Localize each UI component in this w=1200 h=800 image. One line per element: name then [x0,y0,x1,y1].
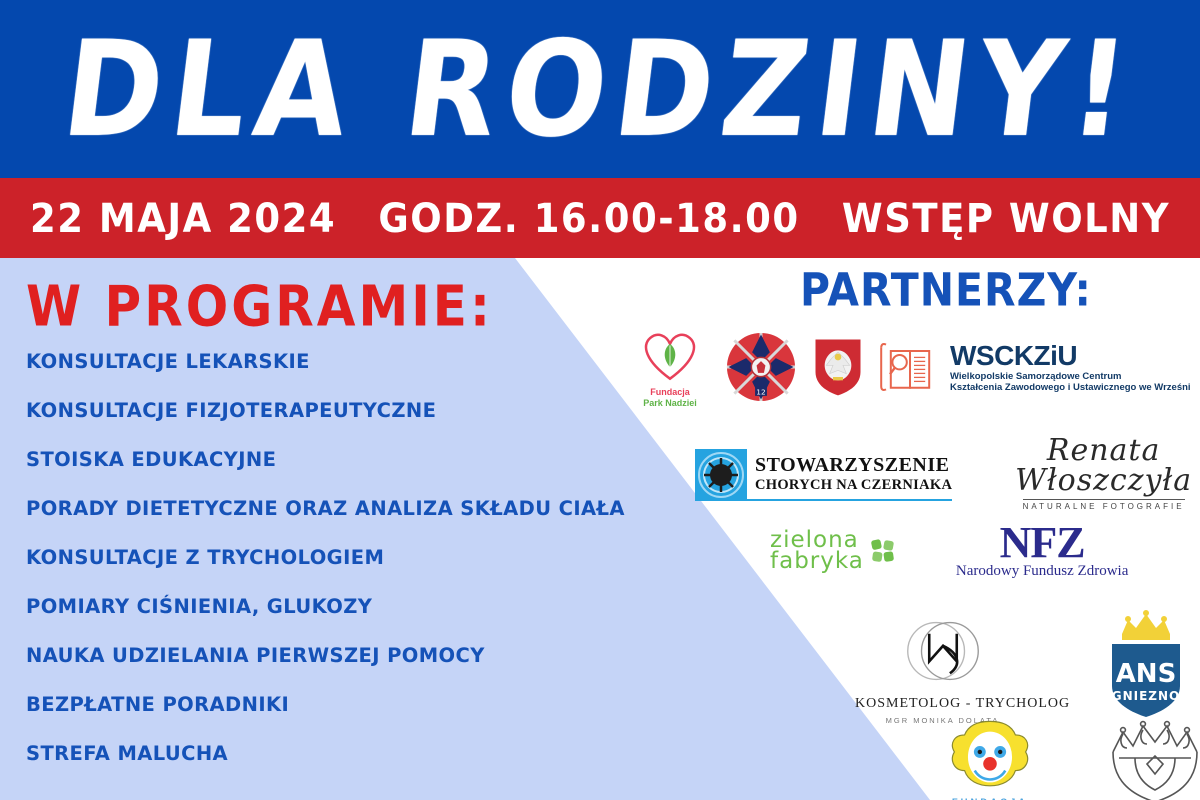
melanoma-cell-icon [695,449,747,501]
heart-leaf-icon [630,324,710,382]
page-title: DLA RODZINY! [57,23,1143,155]
zhp-cross-icon: 12 [724,330,798,404]
partner-logo-row-4: KOSMETOLOG - TRYCHOLOG MGR MONIKA DOLATA… [855,608,1200,725]
logo-line1: STOWARZYSZENIE [755,454,952,477]
monogram-md-icon [900,608,986,694]
clover-leaf-icon [870,538,896,564]
logo-line1: KOSMETOLOG - TRYCHOLOG [855,696,1030,712]
logo-abbr: WSCKZiU [950,340,1191,372]
event-time: GODZ. 16.00-18.00 [378,195,799,241]
logo-wsckziu: WSCKZiU Wielkopolskie Samorządowe Centru… [878,340,1191,394]
open-book-magnifier-icon [878,341,942,393]
event-admission: WSTĘP WOLNY [842,195,1170,241]
partner-logo-row-1: Fundacja Park Nadziei [630,324,1200,410]
event-date: 22 MAJA 2024 [30,195,336,241]
logo-sub: Narodowy Fundusz Zdrowia [956,563,1128,580]
list-item: STREFA MALUCHA [26,742,666,765]
logo-sub-line2: Kształcenia Zawodowego i Ustawicznego we… [950,383,1191,394]
program-section: W PROGRAMIE: KONSULTACJE LEKARSKIE KONSU… [26,274,666,791]
logo-signature-sub: NATURALNE FOTOGRAFIE [1023,499,1185,511]
logo-city: GNIEZNO [1112,689,1181,703]
partners-heading: PARTNERZY: [800,264,1092,317]
logo-renata-wloszczyla: Renata Włoszczyła NATURALNE FOTOGRAFIE [1002,436,1200,514]
list-item: KONSULTACJE Z TRYCHOLOGIEM [26,546,666,569]
logo-wsckziu-text: WSCKZiU Wielkopolskie Samorządowe Centru… [950,340,1191,394]
partner-logo-row-3: zielona fabryka NFZ Narodowy Fundusz Zdr… [770,523,1200,580]
logo-fundacja-park-nadziei: Fundacja Park Nadziei [630,324,710,410]
logo-zielona-fabryka: zielona fabryka [770,530,896,572]
logo-caption: Fundacja Park Nadziei [630,387,710,410]
logo-nfz: NFZ Narodowy Fundusz Zdrowia [956,523,1128,580]
event-info-band: 22 MAJA 2024 GODZ. 16.00-18.00 WSTĘP WOL… [0,178,1200,258]
list-item: PORADY DIETETYCZNE ORAZ ANALIZA SKŁADU C… [26,497,666,520]
logo-dr-clown-fundacja: FUNDACJA [935,718,1045,800]
list-item: STOISKA EDUKACYJNE [26,448,666,471]
lower-section: W PROGRAMIE: KONSULTACJE LEKARSKIE KONSU… [0,258,1200,800]
poster: DLA RODZINY! 22 MAJA 2024 GODZ. 16.00-18… [0,0,1200,800]
logo-caption-line1: Fundacja [630,387,710,398]
logo-zielona-wordmark: zielona fabryka [770,530,864,572]
partners-section: PARTNERZY: Fundacja Park Nadziei [600,258,1200,800]
wielkopolska-crest-icon [812,337,864,397]
partner-logo-row-2: STOWARZYSZENIE CHORYCH NA CZERNIAKA Rena… [695,436,1200,514]
logo-czerniaka-text: STOWARZYSZENIE CHORYCH NA CZERNIAKA [747,449,952,501]
list-item: POMIARY CIŚNIENIA, GLUKOZY [26,595,666,618]
melanoma-cell-glyph [696,450,746,500]
program-heading: W PROGRAMIE: [26,274,666,339]
logo-abbr: ANS [1116,659,1177,689]
logo-ans-gniezno: ANS GNIEZNO [1100,608,1192,720]
clown-face-icon [947,718,1033,796]
crown-icon [1122,610,1170,640]
logo-caption-line2: Park Nadziei [630,398,710,409]
list-item: KONSULTACJE FIZJOTERAPEUTYCZNE [26,399,666,422]
partner-logo-row-5: FUNDACJA [935,718,1200,800]
logo-abbr: NFZ [956,523,1128,563]
logo-signature: Renata Włoszczyła [1002,436,1200,496]
logo-stowarzyszenie-czerniaka: STOWARZYSZENIE CHORYCH NA CZERNIAKA [695,449,952,501]
logo-kosmetolog-trycholog: KOSMETOLOG - TRYCHOLOG MGR MONIKA DOLATA [855,608,1030,725]
crown-sketch-icon [1105,718,1200,800]
title-band: DLA RODZINY! [0,0,1200,178]
logo-word2: fabryka [770,551,864,572]
logo-line2: CHORYCH NA CZERNIAKA [755,477,952,494]
list-item: KONSULTACJE LEKARSKIE [26,350,666,373]
program-list: KONSULTACJE LEKARSKIE KONSULTACJE FIZJOT… [26,350,666,765]
list-item: BEZPŁATNE PORADNIKI [26,693,666,716]
list-item: NAUKA UDZIELANIA PIERWSZEJ POMOCY [26,644,666,667]
zhp-badge-number: 12 [756,387,765,396]
